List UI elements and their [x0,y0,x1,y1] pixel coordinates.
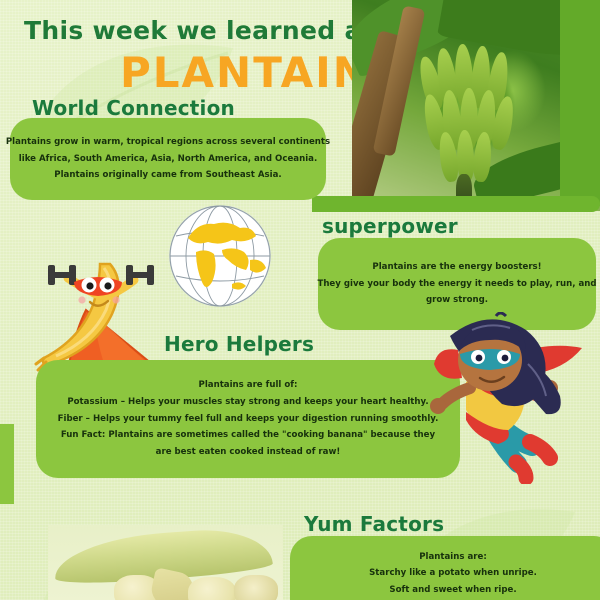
hero-helpers-line-2: Potassium – Helps your muscles stay stro… [57,394,438,411]
section-heading-yum-factors: Yum Factors [304,512,444,536]
superpower-line-3: grow strong. [416,292,498,309]
yum-factors-line-1: Plantains are: [409,549,497,566]
accent-bar-left [0,424,14,504]
girl-superhero-illustration [414,312,592,484]
globe-illustration [162,198,278,314]
hero-helpers-line-4: Fun Fact: Plantains are sometimes called… [51,427,445,444]
accent-bar-under-tree [312,196,600,212]
section-heading-hero-helpers: Hero Helpers [164,332,314,356]
hero-helpers-line-5: are best eaten cooked instead of raw! [146,444,351,461]
superpower-line-1: Plantains are the energy boosters! [362,259,551,276]
section-heading-world-connection: World Connection [32,96,235,120]
panel-world-connection: Plantains grow in warm, tropical regions… [10,118,326,200]
section-heading-superpower: superpower [322,214,458,238]
panel-hero-helpers: Plantains are full of: Potassium – Helps… [36,360,460,478]
world-connection-line-2: like Africa, South America, Asia, North … [9,151,327,168]
yum-factors-line-2: Starchy like a potato when unripe. [359,565,547,582]
world-connection-line-1: Plantains grow in warm, tropical regions… [0,134,340,151]
hero-helpers-line-1: Plantains are full of: [189,377,308,394]
superpower-line-2: They give your body the energy it needs … [307,276,600,293]
sliced-plantain-photo [48,525,283,600]
yum-factors-line-3: Soft and sweet when ripe. [379,582,526,599]
accent-bar-right [560,0,600,206]
infographic-poster: This week we learned about PLANTAINS Wor… [0,0,600,600]
panel-yum-factors: Plantains are: Starchy like a potato whe… [290,536,600,600]
hero-helpers-line-3: Fiber – Helps your tummy feel full and k… [48,411,449,428]
world-connection-line-3: Plantains originally came from Southeast… [44,167,291,184]
